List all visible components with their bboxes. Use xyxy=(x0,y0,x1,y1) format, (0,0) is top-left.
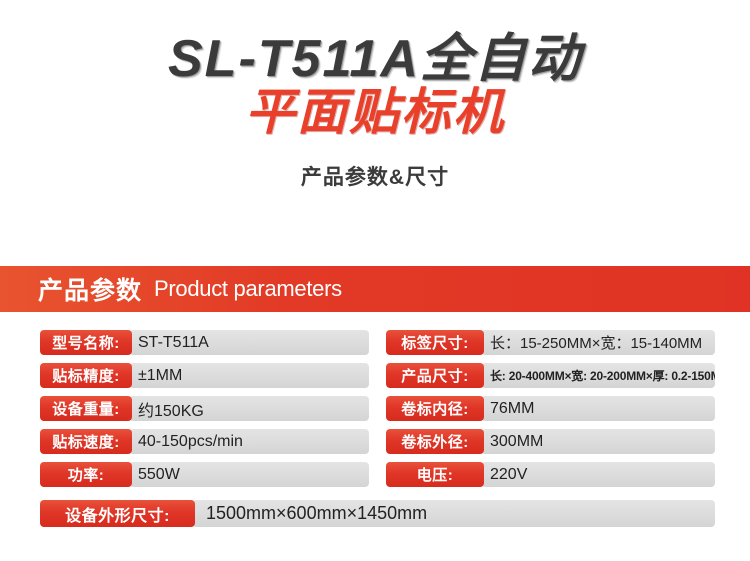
spec-value: 76MM xyxy=(481,396,715,421)
spec-row: 贴标精度: ±1MM xyxy=(40,363,369,388)
product-title-sub: 平面贴标机 xyxy=(0,85,750,139)
product-title-main: SL-T511A全自动 xyxy=(0,32,750,87)
spec-row: 卷标外径: 300MM xyxy=(386,429,715,454)
spec-row: 设备重量: 约150KG xyxy=(40,396,369,421)
spec-value: 1500mm×600mm×1450mm xyxy=(192,500,715,527)
section-banner-product-parameters: 产品参数 Product parameters xyxy=(0,266,750,312)
spec-row: 贴标速度: 40-150pcs/min xyxy=(40,429,369,454)
spec-row: 卷标内径: 76MM xyxy=(386,396,715,421)
spec-table: 型号名称: ST-T511A 贴标精度: ±1MM 设备重量: 约150KG 贴… xyxy=(0,330,750,527)
spec-value: 长：15-250MM×宽：15-140MM xyxy=(481,330,715,355)
page-subtitle: 产品参数&尺寸 xyxy=(0,161,750,191)
spec-value: ±1MM xyxy=(129,363,369,388)
section-banner-title-cn: 产品参数 xyxy=(38,271,142,307)
spec-row: 电压: 220V xyxy=(386,462,715,487)
page-header: SL-T511A全自动 平面贴标机 产品参数&尺寸 xyxy=(0,0,750,191)
spec-label: 标签尺寸: xyxy=(386,330,484,355)
spec-label: 电压: xyxy=(386,462,484,487)
spec-value: 220V xyxy=(481,462,715,487)
spec-row: 标签尺寸: 长：15-250MM×宽：15-140MM xyxy=(386,330,715,355)
spec-column-left: 型号名称: ST-T511A 贴标精度: ±1MM 设备重量: 约150KG 贴… xyxy=(40,330,369,495)
spec-label: 贴标速度: xyxy=(40,429,132,454)
spec-label: 贴标精度: xyxy=(40,363,132,388)
section-banner-title-en: Product parameters xyxy=(154,276,342,302)
spec-label: 功率: xyxy=(40,462,132,487)
spec-value: ST-T511A xyxy=(129,330,369,355)
spec-value: 300MM xyxy=(481,429,715,454)
spec-row: 型号名称: ST-T511A xyxy=(40,330,369,355)
spec-column-right: 标签尺寸: 长：15-250MM×宽：15-140MM 产品尺寸: 长: 20-… xyxy=(386,330,715,495)
spec-label: 卷标内径: xyxy=(386,396,484,421)
spec-label: 设备重量: xyxy=(40,396,132,421)
spec-row: 功率: 550W xyxy=(40,462,369,487)
spec-label: 型号名称: xyxy=(40,330,132,355)
spec-label: 卷标外径: xyxy=(386,429,484,454)
spec-row: 产品尺寸: 长: 20-400MM×宽: 20-200MM×厚: 0.2-150… xyxy=(386,363,715,388)
spec-columns: 型号名称: ST-T511A 贴标精度: ±1MM 设备重量: 约150KG 贴… xyxy=(0,330,750,495)
spec-value: 长: 20-400MM×宽: 20-200MM×厚: 0.2-150MM xyxy=(481,363,715,388)
spec-label: 设备外形尺寸: xyxy=(40,500,195,527)
spec-row-machine-dimensions: 设备外形尺寸: 1500mm×600mm×1450mm xyxy=(40,500,715,527)
spec-value: 550W xyxy=(129,462,369,487)
spec-label: 产品尺寸: xyxy=(386,363,484,388)
spec-value: 约150KG xyxy=(129,396,369,421)
spec-value: 40-150pcs/min xyxy=(129,429,369,454)
